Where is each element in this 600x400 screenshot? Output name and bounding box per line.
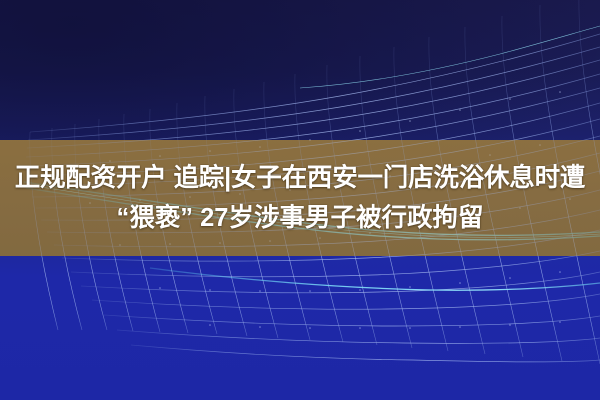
headline-line-2: “猥亵” 27岁涉事男子被行政拘留 <box>117 200 484 236</box>
headline-block: 正规配资开户 追踪|女子在西安一门店洗浴休息时遭 “猥亵” 27岁涉事男子被行政… <box>0 140 600 256</box>
headline-line-1: 正规配资开户 追踪|女子在西安一门店洗浴休息时遭 <box>15 160 585 196</box>
news-banner: 正规配资开户 追踪|女子在西安一门店洗浴休息时遭 “猥亵” 27岁涉事男子被行政… <box>0 0 600 400</box>
